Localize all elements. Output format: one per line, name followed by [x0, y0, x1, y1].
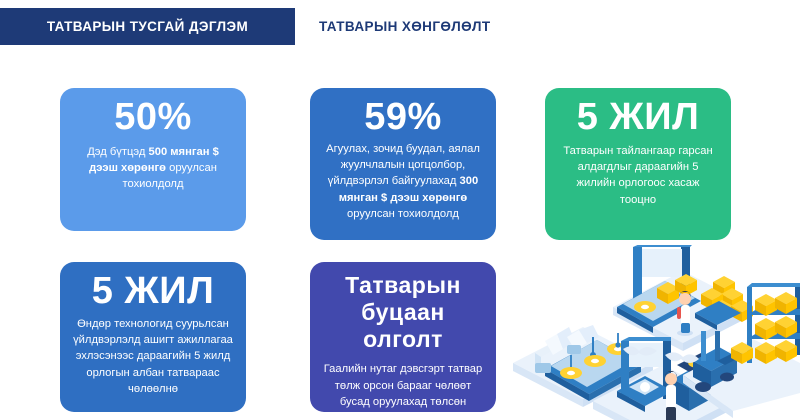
- card-hightech-exemption-headline: 5 ЖИЛ: [92, 272, 215, 312]
- tab-tax-relief-label: ТАТВАРЫН ХӨНГӨЛӨЛТ: [319, 19, 491, 34]
- card-hightech-exemption-body-text: Өндөр технологид суурьлсан үйлдвэрлэлд а…: [73, 318, 233, 395]
- tab-tax-relief[interactable]: ТАТВАРЫН ХӨНГӨЛӨЛТ: [305, 8, 505, 45]
- card-tax-refund-body: Гаалийн нутаг дэвсгэрт татвар төлж орсон…: [322, 361, 484, 420]
- card-infrastructure[interactable]: 50% Дэд бүтцэд 500 мянган $ дээш хөрөнгө…: [60, 88, 246, 231]
- card-loss-carryforward-body-text: Татварын тайлангаар гарсан алдагдлыг дар…: [563, 145, 712, 206]
- card-tax-refund-body-text: Гаалийн нутаг дэвсгэрт татвар төлж орсон…: [324, 363, 483, 420]
- infographic-page: ТАТВАРЫН ТУСГАЙ ДЭГЛЭМ ТАТВАРЫН ХӨНГӨЛӨЛ…: [0, 0, 800, 420]
- card-hightech-exemption[interactable]: 5 ЖИЛ Өндөр технологид суурьлсан үйлдвэр…: [60, 262, 246, 412]
- isometric-factory-illustration: [505, 245, 800, 420]
- card-loss-carryforward[interactable]: 5 ЖИЛ Татварын тайлангаар гарсан алдагдл…: [545, 88, 731, 240]
- card-infrastructure-body-pre: Дэд бүтцэд: [87, 146, 148, 158]
- card-loss-carryforward-body: Татварын тайлангаар гарсан алдагдлыг дар…: [557, 143, 719, 208]
- tab-special-tax-regime-label: ТАТВАРЫН ТУСГАЙ ДЭГЛЭМ: [47, 19, 248, 34]
- card-warehouse-headline: 59%: [364, 98, 442, 138]
- tab-bar: ТАТВАРЫН ТУСГАЙ ДЭГЛЭМ ТАТВАРЫН ХӨНГӨЛӨЛ…: [0, 8, 800, 48]
- card-tax-refund-headline: Татварын буцаан олголт: [322, 272, 484, 353]
- card-hightech-exemption-body: Өндөр технологид суурьлсан үйлдвэрлэлд а…: [72, 316, 234, 397]
- card-warehouse-body: Агуулах, зочид буудал, аялал жуулчлалын …: [322, 141, 484, 222]
- card-warehouse-body-pre: Агуулах, зочид буудал, аялал жуулчлалын …: [326, 143, 480, 187]
- card-warehouse-body-post: оруулсан тохиолдолд: [347, 208, 459, 220]
- card-warehouse[interactable]: 59% Агуулах, зочид буудал, аялал жуулчла…: [310, 88, 496, 240]
- card-tax-refund[interactable]: Татварын буцаан олголт Гаалийн нутаг дэв…: [310, 262, 496, 412]
- tab-special-tax-regime[interactable]: ТАТВАРЫН ТУСГАЙ ДЭГЛЭМ: [0, 8, 295, 45]
- card-infrastructure-headline: 50%: [114, 98, 192, 138]
- card-loss-carryforward-headline: 5 ЖИЛ: [577, 98, 700, 138]
- card-infrastructure-body: Дэд бүтцэд 500 мянган $ дээш хөрөнгө ору…: [72, 144, 234, 193]
